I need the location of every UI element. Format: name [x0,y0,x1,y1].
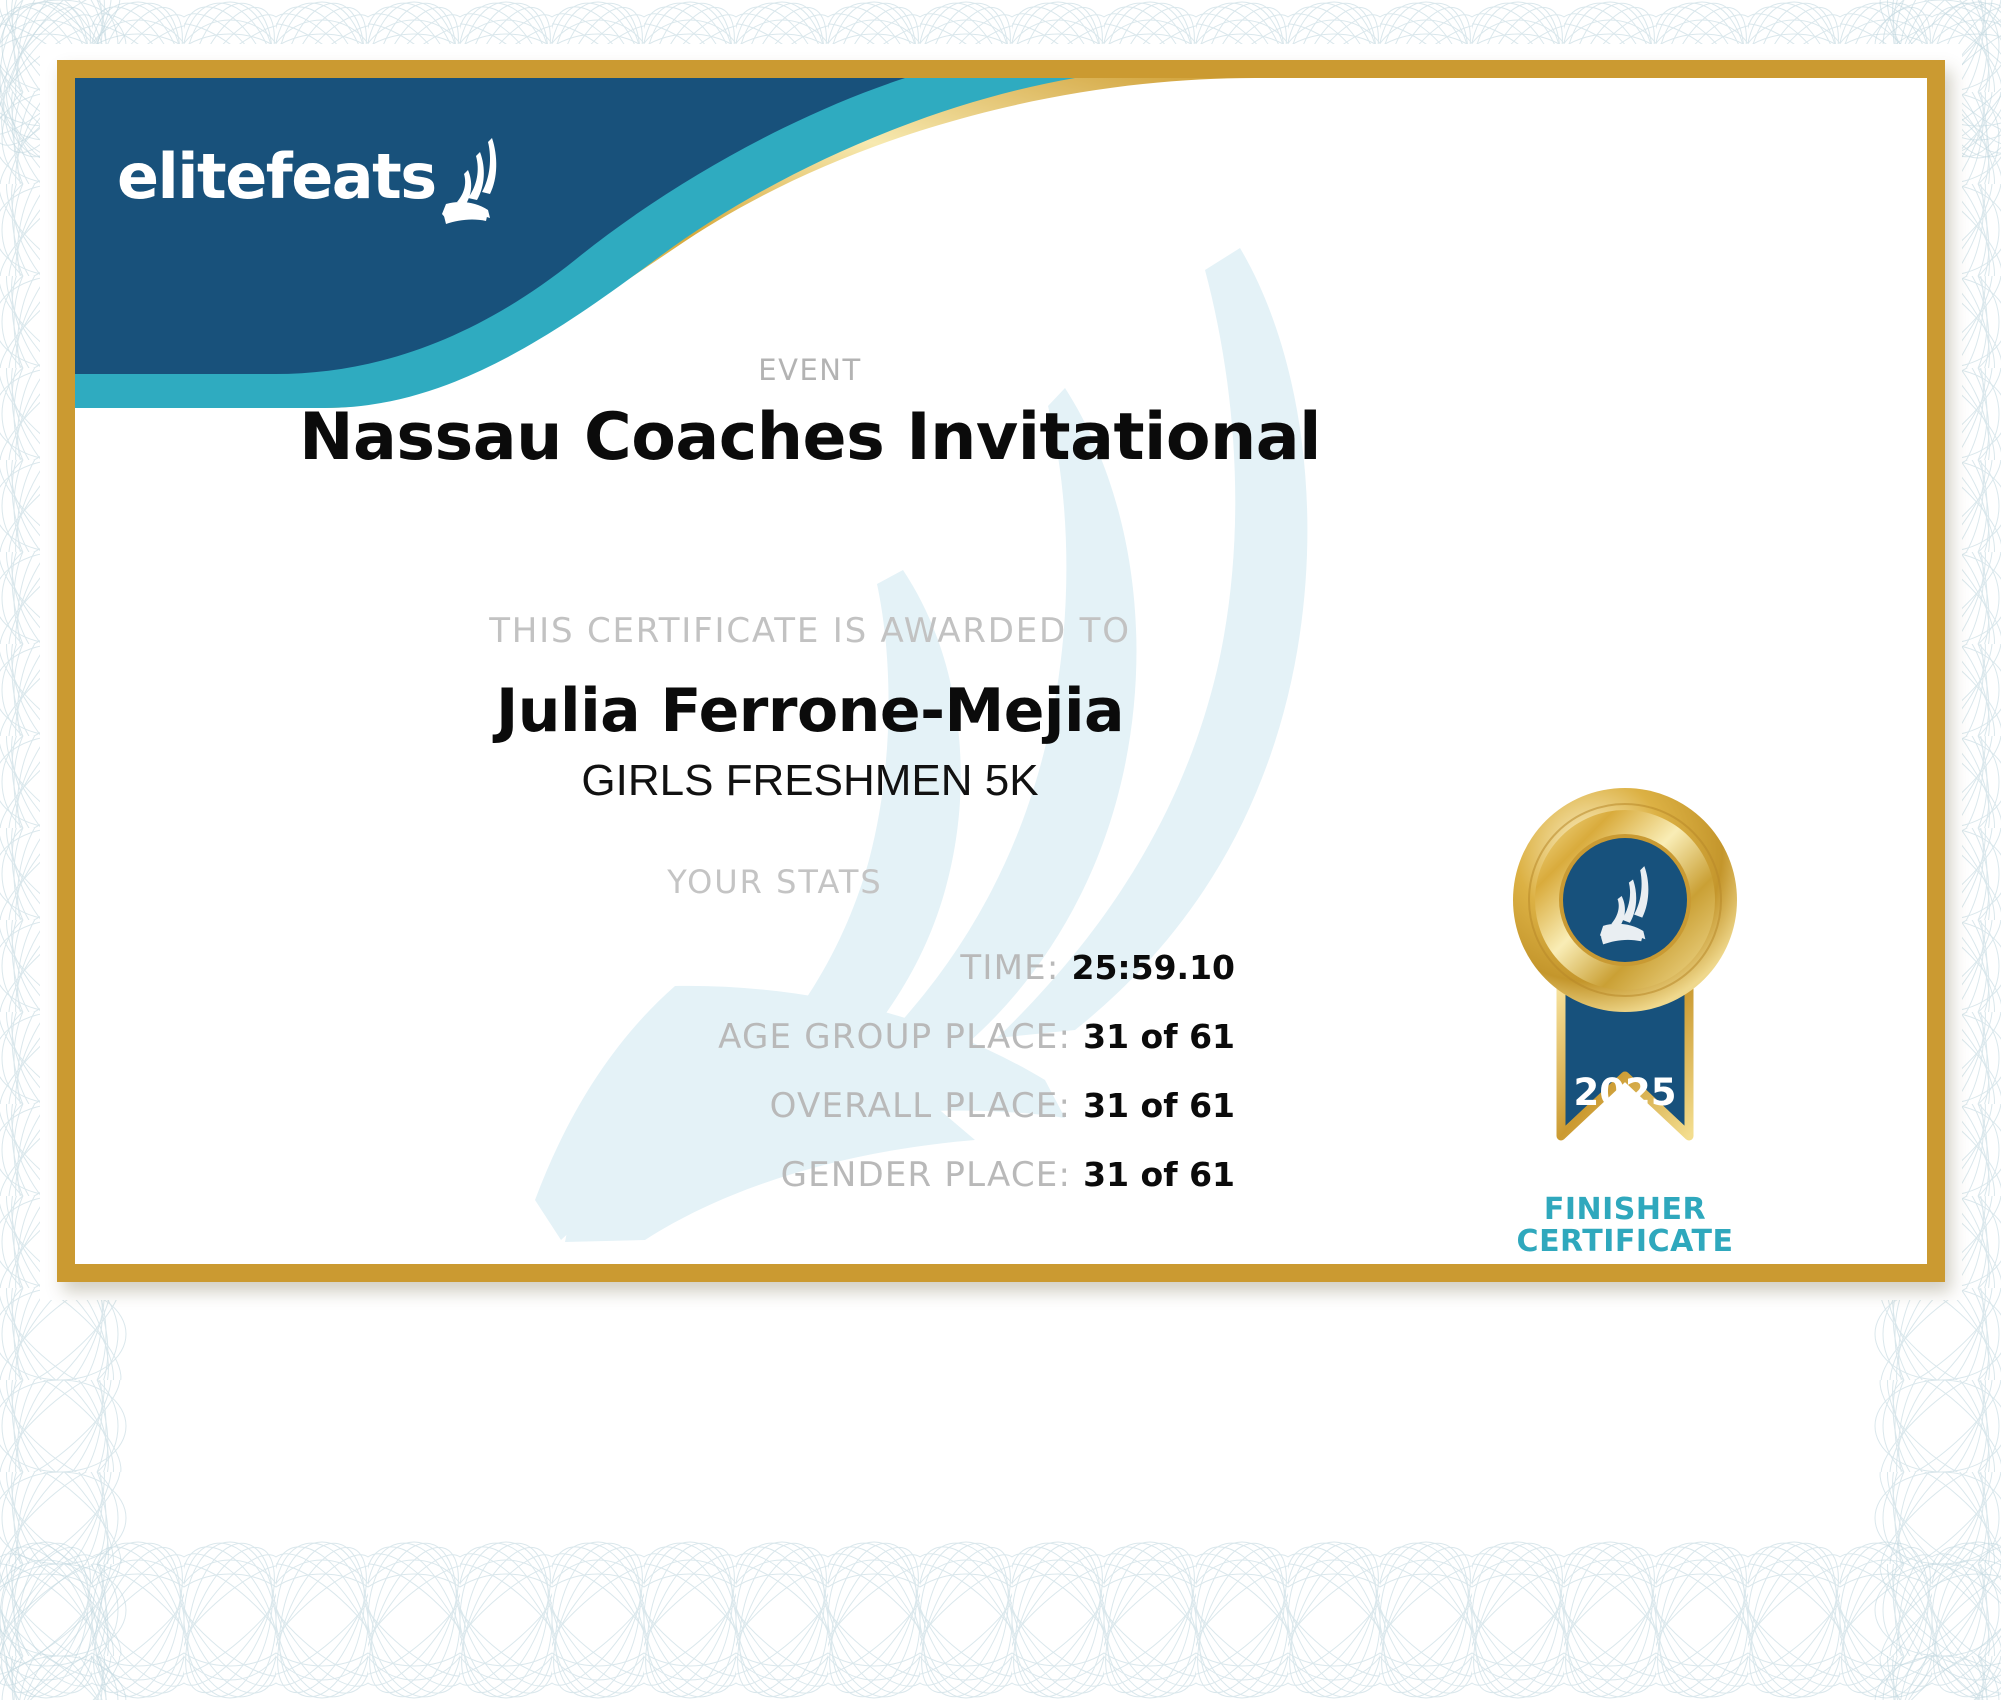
division-name: GIRLS FRESHMEN 5K [75,756,1545,806]
event-name: Nassau Coaches Invitational [75,400,1545,475]
stat-value-age-group-place: 31 of 61 [1083,1017,1235,1056]
stat-value-time: 25:59.10 [1071,948,1235,987]
stat-value-gender-place: 31 of 61 [1083,1155,1235,1194]
finisher-medal-badge: 2025 FINISHER CERTIFICATE [1475,788,1775,1258]
stat-label-time: TIME: [960,948,1059,988]
stat-row: GENDER PLACE: 31 of 61 [375,1155,1235,1195]
stat-row: OVERALL PLACE: 31 of 61 [375,1086,1235,1126]
badge-caption-line2: CERTIFICATE [1475,1226,1775,1258]
stat-value-overall-place: 31 of 61 [1083,1086,1235,1125]
stats-heading: YOUR STATS [75,863,1475,901]
event-label: EVENT [75,353,1545,387]
stat-row: AGE GROUP PLACE: 31 of 61 [375,1017,1235,1057]
stat-label-gender-place: GENDER PLACE: [781,1155,1072,1195]
stat-row: TIME: 25:59.10 [375,948,1235,988]
badge-caption: FINISHER CERTIFICATE [1475,1194,1775,1258]
stat-label-age-group-place: AGE GROUP PLACE: [718,1017,1071,1057]
awarded-to-label: THIS CERTIFICATE IS AWARDED TO [75,611,1545,651]
stats-list: TIME: 25:59.10 AGE GROUP PLACE: 31 of 61… [375,948,1235,1224]
badge-year-text: 2025 [1574,1071,1677,1114]
stat-label-overall-place: OVERALL PLACE: [770,1086,1071,1126]
recipient-name: Julia Ferrone-Mejia [75,676,1545,746]
badge-caption-line1: FINISHER [1475,1194,1775,1226]
certificate-card: elitefeats EVENT Nassau Coaches Invitati… [57,60,1945,1282]
